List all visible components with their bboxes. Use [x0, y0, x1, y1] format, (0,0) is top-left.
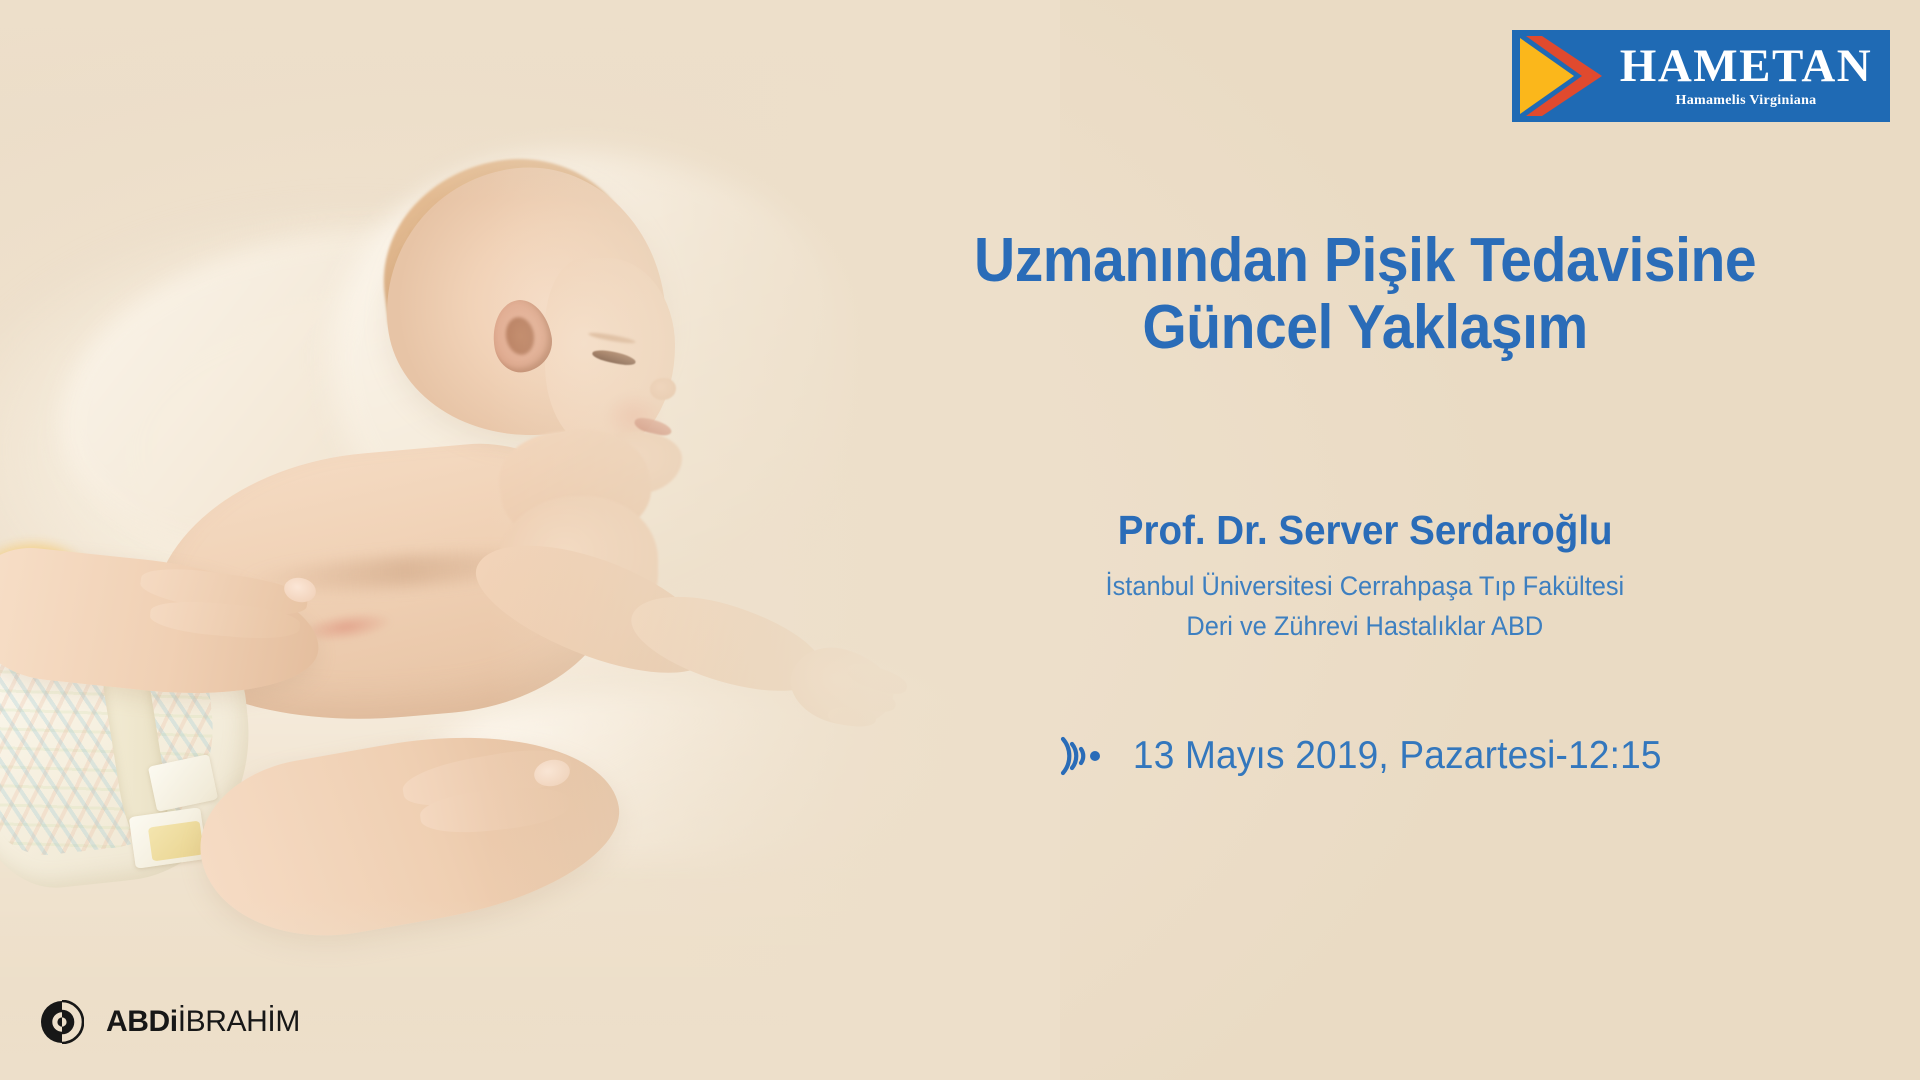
broadcast-signal-icon: [1055, 730, 1107, 782]
slide-title: Uzmanından Pişik Tedavisine Güncel Yakla…: [974, 228, 1756, 362]
presentation-slide: HAMETAN Hamamelis Virginiana Uzmanından …: [0, 0, 1920, 1080]
slide-text-content: Uzmanından Pişik Tedavisine Güncel Yakla…: [860, 0, 1870, 1080]
abdi-bold-text: ABDi: [106, 1005, 178, 1038]
speaker-affiliation-line-2: Deri ve Zührevi Hastalıklar ABD: [1187, 607, 1544, 645]
abdi-ibrahim-logo: ABDiİBRAHİM: [40, 1000, 300, 1044]
ibrahim-light-text: İBRAHİM: [178, 1005, 300, 1038]
datetime-row: 13 Mayıs 2019, Pazartesi-12:15: [1055, 730, 1676, 782]
abdi-ibrahim-mark-icon: [40, 1000, 84, 1044]
event-datetime: 13 Mayıs 2019, Pazartesi-12:15: [1133, 734, 1662, 778]
abdi-ibrahim-wordmark: ABDiİBRAHİM: [106, 1005, 300, 1039]
speaker-name: Prof. Dr. Server Serdaroğlu: [1118, 508, 1613, 553]
diaper-tab-accent: [148, 821, 204, 862]
speaker-affiliation-line-1: İstanbul Üniversitesi Cerrahpaşa Tıp Fak…: [1106, 567, 1625, 605]
baby-photo: [0, 0, 960, 1080]
